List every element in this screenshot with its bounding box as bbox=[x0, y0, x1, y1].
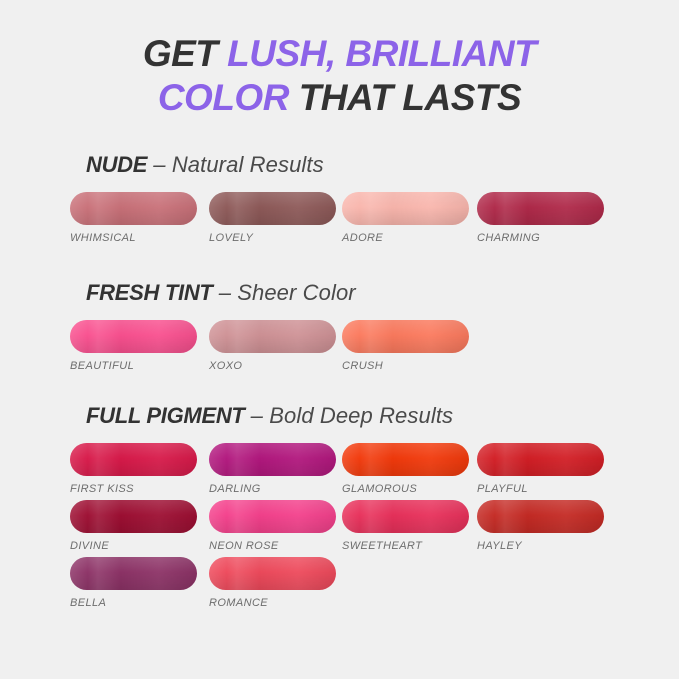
headline-text-get: GET bbox=[143, 33, 227, 74]
shade-name-label: CHARMING bbox=[477, 232, 604, 245]
shade-swatch[interactable] bbox=[342, 192, 469, 225]
section-heading: FRESH TINT – Sheer Color bbox=[86, 280, 679, 306]
swatch-item[interactable]: FIRST KISS bbox=[70, 443, 197, 496]
section-heading: NUDE – Natural Results bbox=[86, 152, 679, 178]
shade-swatch[interactable] bbox=[70, 192, 197, 225]
shade-swatch[interactable] bbox=[70, 557, 197, 590]
shade-name-label: HAYLEY bbox=[477, 540, 604, 553]
shade-name-label: LOVELY bbox=[209, 232, 336, 245]
shade-swatch[interactable] bbox=[209, 320, 336, 353]
swatch-item[interactable]: CRUSH bbox=[342, 320, 469, 373]
shade-name-label: DARLING bbox=[209, 483, 336, 496]
swatch-grid: WHIMSICALLOVELYADORECHARMING bbox=[0, 192, 679, 249]
section-category-label: FRESH TINT bbox=[86, 280, 213, 305]
shade-swatch[interactable] bbox=[342, 320, 469, 353]
swatch-item[interactable]: WHIMSICAL bbox=[70, 192, 197, 245]
shade-name-label: ROMANCE bbox=[209, 597, 336, 610]
shade-name-label: ADORE bbox=[342, 232, 469, 245]
shade-name-label: DIVINE bbox=[70, 540, 197, 553]
swatch-item[interactable]: CHARMING bbox=[477, 192, 604, 245]
shade-swatch[interactable] bbox=[477, 192, 604, 225]
swatch-grid: FIRST KISSDARLINGGLAMOROUSPLAYFULDIVINEN… bbox=[0, 443, 679, 614]
swatch-grid: BEAUTIFULXOXOCRUSH bbox=[0, 320, 679, 377]
shade-swatch[interactable] bbox=[477, 443, 604, 476]
swatch-item[interactable]: DIVINE bbox=[70, 500, 197, 553]
shade-name-label: WHIMSICAL bbox=[70, 232, 197, 245]
shade-swatch[interactable] bbox=[209, 443, 336, 476]
swatch-item[interactable]: SWEETHEART bbox=[342, 500, 469, 553]
shade-name-label: XOXO bbox=[209, 360, 336, 373]
shade-swatch[interactable] bbox=[70, 443, 197, 476]
shade-name-label: BEAUTIFUL bbox=[70, 360, 197, 373]
swatch-item[interactable]: DARLING bbox=[209, 443, 336, 496]
headline-line-2: COLOR THAT LASTS bbox=[0, 76, 679, 120]
shade-name-label: PLAYFUL bbox=[477, 483, 604, 496]
shade-name-label: SWEETHEART bbox=[342, 540, 469, 553]
section-heading: FULL PIGMENT – Bold Deep Results bbox=[86, 403, 679, 429]
section-description-label: – Sheer Color bbox=[219, 280, 356, 305]
headline-accent-color: COLOR bbox=[158, 77, 289, 118]
swatch-item[interactable]: XOXO bbox=[209, 320, 336, 373]
shade-name-label: BELLA bbox=[70, 597, 197, 610]
shade-name-label: NEON ROSE bbox=[209, 540, 336, 553]
shade-swatch[interactable] bbox=[70, 320, 197, 353]
swatch-item[interactable]: BELLA bbox=[70, 557, 197, 610]
swatch-item[interactable]: NEON ROSE bbox=[209, 500, 336, 553]
shade-name-label: CRUSH bbox=[342, 360, 469, 373]
swatch-row: WHIMSICALLOVELYADORECHARMING bbox=[70, 192, 679, 249]
shade-name-label: GLAMOROUS bbox=[342, 483, 469, 496]
swatch-row: BEAUTIFULXOXOCRUSH bbox=[70, 320, 679, 377]
section-category-label: NUDE bbox=[86, 152, 147, 177]
shade-section-full-pigment: FULL PIGMENT – Bold Deep ResultsFIRST KI… bbox=[0, 403, 679, 614]
shade-swatch[interactable] bbox=[342, 500, 469, 533]
shade-swatch[interactable] bbox=[209, 500, 336, 533]
swatch-item[interactable]: ROMANCE bbox=[209, 557, 336, 610]
swatch-row: FIRST KISSDARLINGGLAMOROUSPLAYFUL bbox=[70, 443, 679, 500]
section-description-label: – Natural Results bbox=[153, 152, 323, 177]
section-description-label: – Bold Deep Results bbox=[251, 403, 453, 428]
swatch-item[interactable]: HAYLEY bbox=[477, 500, 604, 553]
swatch-row: DIVINENEON ROSESWEETHEARTHAYLEY bbox=[70, 500, 679, 557]
shade-swatch[interactable] bbox=[477, 500, 604, 533]
swatch-item[interactable]: ADORE bbox=[342, 192, 469, 245]
shade-swatch[interactable] bbox=[70, 500, 197, 533]
headline-text-that-lasts: THAT LASTS bbox=[289, 77, 521, 118]
shade-section-nude: NUDE – Natural ResultsWHIMSICALLOVELYADO… bbox=[0, 152, 679, 249]
swatch-item[interactable]: LOVELY bbox=[209, 192, 336, 245]
swatch-item[interactable]: GLAMOROUS bbox=[342, 443, 469, 496]
shade-section-fresh-tint: FRESH TINT – Sheer ColorBEAUTIFULXOXOCRU… bbox=[0, 280, 679, 377]
shade-swatch[interactable] bbox=[209, 192, 336, 225]
swatch-row: BELLAROMANCE bbox=[70, 557, 679, 614]
section-category-label: FULL PIGMENT bbox=[86, 403, 245, 428]
swatch-item[interactable]: BEAUTIFUL bbox=[70, 320, 197, 373]
shade-swatch[interactable] bbox=[342, 443, 469, 476]
headline-line-1: GET LUSH, BRILLIANT bbox=[0, 32, 679, 76]
page-headline: GET LUSH, BRILLIANT COLOR THAT LASTS bbox=[0, 32, 679, 120]
shade-name-label: FIRST KISS bbox=[70, 483, 197, 496]
shade-swatch[interactable] bbox=[209, 557, 336, 590]
swatch-item[interactable]: PLAYFUL bbox=[477, 443, 604, 496]
headline-accent-lush-brilliant: LUSH, BRILLIANT bbox=[227, 33, 536, 74]
